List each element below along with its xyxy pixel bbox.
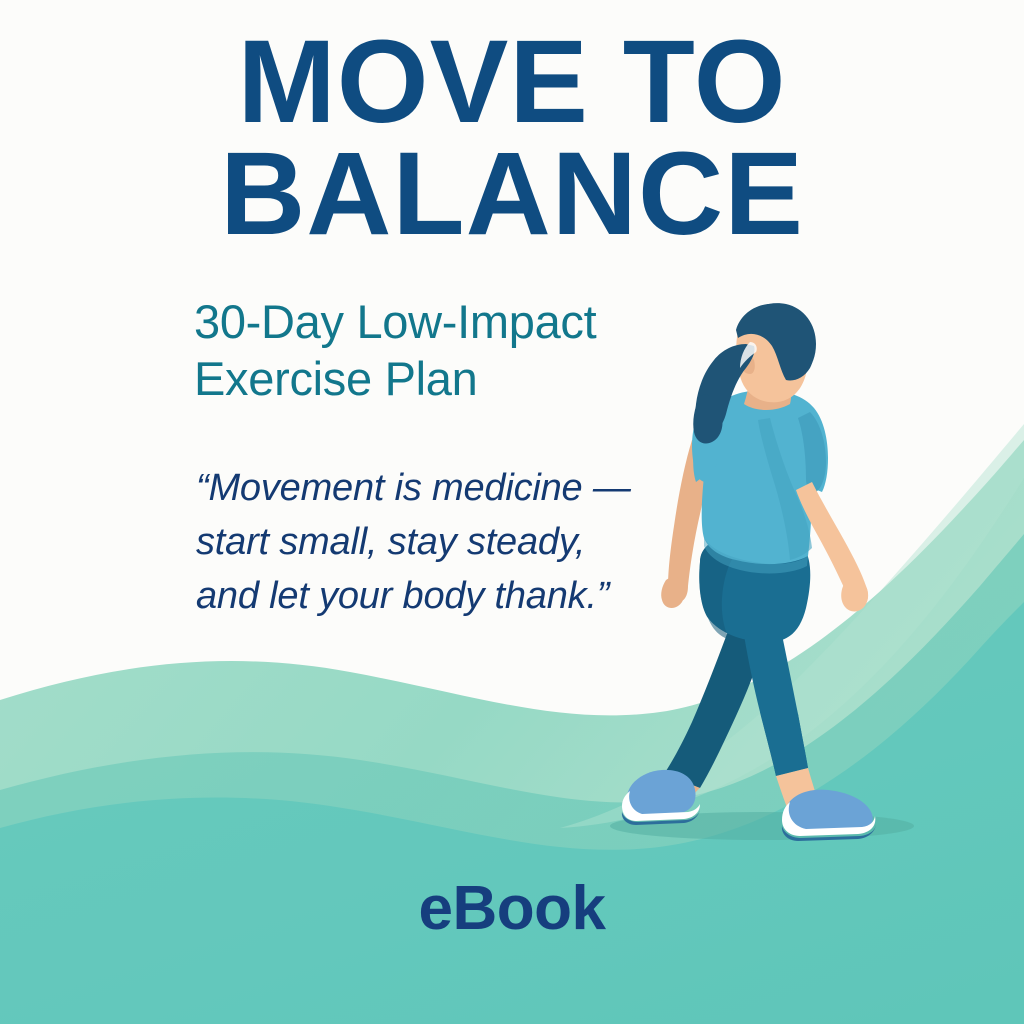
back-shoe (622, 770, 700, 825)
front-shoe (782, 790, 876, 841)
walking-woman-illustration (0, 0, 1024, 1024)
front-hand (841, 579, 868, 611)
front-leg-shin (760, 712, 808, 776)
ebook-cover: MOVE TO BALANCE 30-Day Low-Impact Exerci… (0, 0, 1024, 1024)
rear-hand (661, 577, 685, 608)
